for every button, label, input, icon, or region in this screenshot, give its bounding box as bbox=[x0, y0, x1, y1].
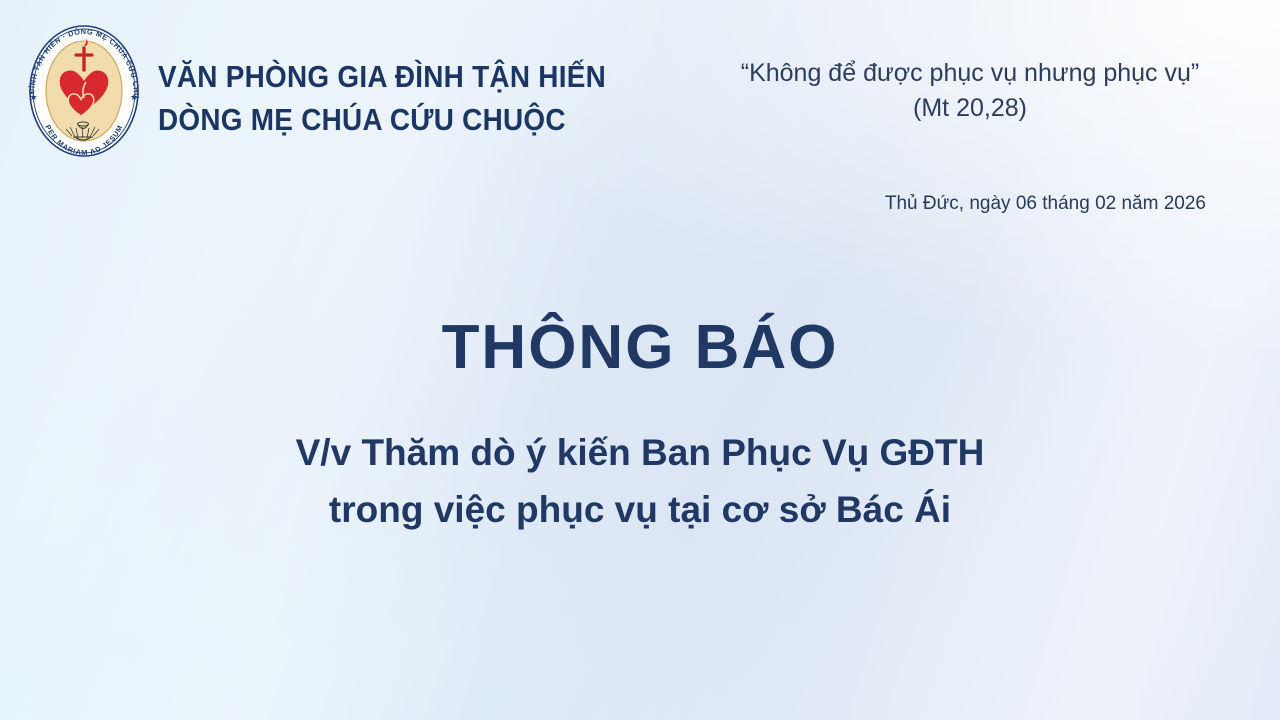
organization-title: VĂN PHÒNG GIA ĐÌNH TẬN HIẾN DÒNG MẸ CHÚA… bbox=[158, 55, 606, 141]
subtitle: V/v Thăm dò ý kiến Ban Phục Vụ GĐTH tron… bbox=[0, 424, 1280, 538]
place-and-date: Thủ Đức, ngày 06 tháng 02 năm 2026 bbox=[640, 193, 1244, 215]
subtitle-line-1: V/v Thăm dò ý kiến Ban Phục Vụ GĐTH bbox=[0, 424, 1280, 481]
slide-header: GIA ĐÌNH TẬN HIẾN · DÒNG MẸ CHÚA CỨU CHU… bbox=[0, 0, 1280, 186]
org-title-line-1: VĂN PHÒNG GIA ĐÌNH TẬN HIẾN bbox=[158, 55, 606, 98]
page-title: THÔNG BÁO bbox=[0, 312, 1280, 383]
svg-text:★: ★ bbox=[30, 93, 38, 103]
announcement-slide: GIA ĐÌNH TẬN HIẾN · DÒNG MẸ CHÚA CỨU CHU… bbox=[0, 0, 1280, 720]
svg-text:★: ★ bbox=[130, 93, 138, 103]
motto-reference: (Mt 20,28) bbox=[660, 91, 1280, 126]
subtitle-line-2: trong việc phục vụ tại cơ sở Bác Ái bbox=[0, 481, 1280, 538]
motto-block: “Không để được phục vụ nhưng phục vụ” (M… bbox=[660, 56, 1280, 126]
org-title-line-2: DÒNG MẸ CHÚA CỨU CHUỘC bbox=[158, 98, 606, 141]
emblem-logo: GIA ĐÌNH TẬN HIẾN · DÒNG MẸ CHÚA CỨU CHU… bbox=[14, 24, 154, 158]
motto-quote: “Không để được phục vụ nhưng phục vụ” bbox=[741, 59, 1199, 87]
